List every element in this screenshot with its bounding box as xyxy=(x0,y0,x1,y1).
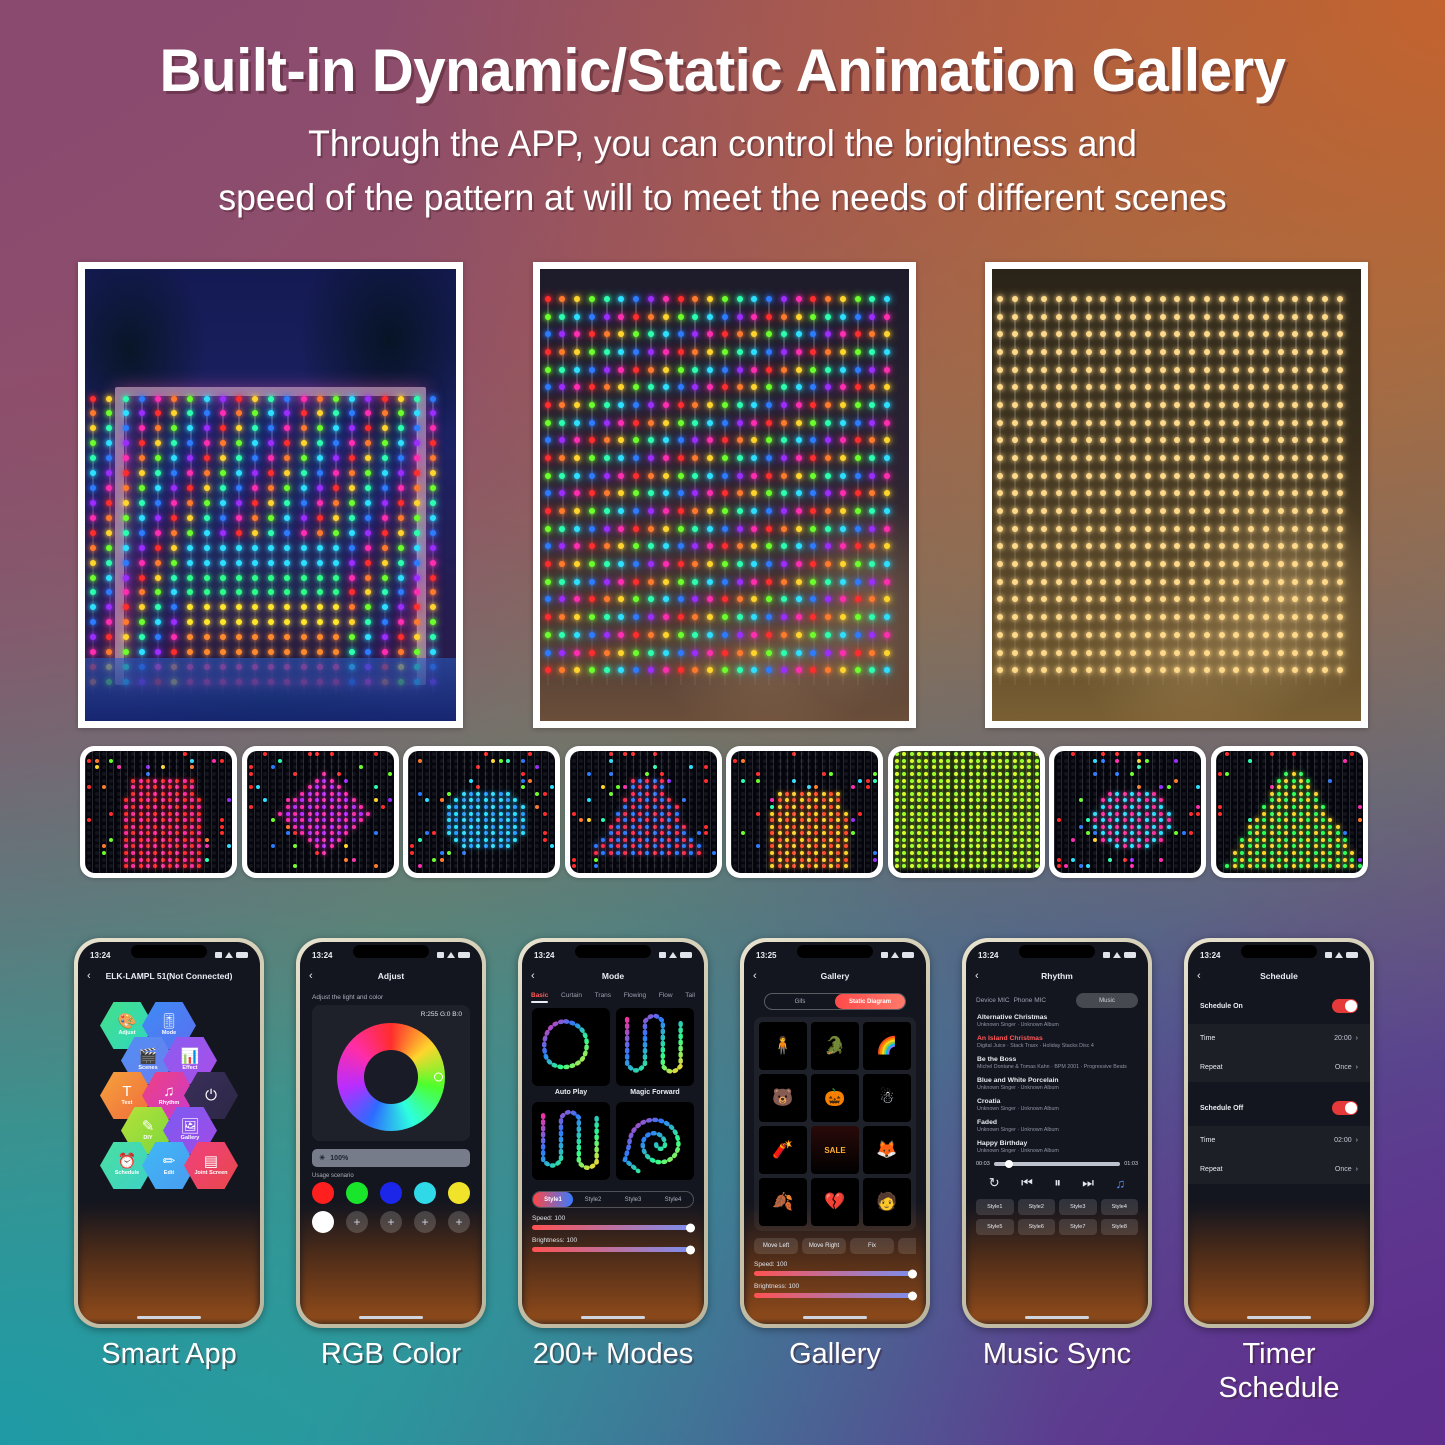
pattern-thumbnail xyxy=(1211,746,1368,878)
hex-menu-label: Gallery xyxy=(163,1136,217,1142)
smiley-face-pattern xyxy=(893,751,1040,873)
mode-cell-label: Auto Play xyxy=(532,1086,610,1096)
phone-rgb-color: 13:24 ‹ Adjust Adjust the light and colo… xyxy=(296,938,486,1328)
color-swatch[interactable] xyxy=(312,1211,334,1233)
schedule-row-time[interactable]: Time02:00› xyxy=(1188,1126,1370,1155)
pattern-thumbnail xyxy=(403,746,560,878)
nav-bar: ‹ Mode xyxy=(522,964,704,988)
schedule-row-repeat[interactable]: RepeatOnce› xyxy=(1188,1053,1370,1082)
usage-scenario-label: Usage scenario xyxy=(300,1167,482,1182)
phone-notch xyxy=(131,945,207,958)
brightness-slider-knob[interactable] xyxy=(908,1291,917,1300)
song-artist: Unknown Singer · Unknown Album xyxy=(977,1127,1137,1133)
tree-pattern xyxy=(570,751,717,873)
nav-bar: ‹ Adjust xyxy=(300,964,482,988)
nav-title: ELK-LAMPL 51(Not Connected) xyxy=(101,971,237,981)
song-list-item[interactable]: FadedUnknown Singer · Unknown Album xyxy=(977,1119,1137,1133)
back-icon[interactable]: ‹ xyxy=(87,970,101,982)
hex-joint-screen-icon: ▤ xyxy=(204,1154,218,1169)
battery-icon xyxy=(902,952,914,958)
phone-modes: 13:24 ‹ Mode BasicCurtainTransFlowingFlo… xyxy=(518,938,708,1328)
mode-tab-flow[interactable]: Flow xyxy=(659,992,673,999)
schedule-row-schedule-on[interactable]: Schedule On xyxy=(1188,988,1370,1024)
signal-icon xyxy=(881,952,888,958)
status-time: 13:24 xyxy=(1200,951,1220,960)
song-title: Be the Boss xyxy=(977,1056,1137,1063)
mode-cell-wrapper[interactable]: Magic Forward xyxy=(616,1008,694,1096)
phone-smart-app: 13:24 ‹ ELK-LAMPL 51(Not Connected) 🎨Adj… xyxy=(74,938,264,1328)
mode-cell-wrapper[interactable] xyxy=(532,1102,610,1183)
elephant-pattern xyxy=(408,751,555,873)
song-list-item[interactable]: Happy BirthdayUnknown Singer · Unknown A… xyxy=(977,1140,1137,1154)
song-artist: Unknown Singer · Unknown Album xyxy=(977,1106,1137,1112)
mode-tab-basic[interactable]: Basic xyxy=(531,992,548,999)
back-icon[interactable]: ‹ xyxy=(1197,970,1211,982)
header-block: Built-in Dynamic/Static Animation Galler… xyxy=(0,36,1445,224)
add-swatch-button[interactable]: + xyxy=(414,1211,436,1233)
add-swatch-button[interactable]: + xyxy=(448,1211,470,1233)
chevron-right-icon: › xyxy=(1356,1166,1358,1173)
gallery-button-move-left[interactable]: Move Left xyxy=(754,1238,798,1254)
brightness-label: Brightness: 100 xyxy=(754,1283,916,1290)
pattern-thumbnail xyxy=(888,746,1045,878)
brightness-icon: ☀ xyxy=(319,1154,325,1162)
signal-icon xyxy=(659,952,666,958)
gallery-pattern-cell[interactable]: 🌈 xyxy=(863,1022,911,1070)
progress-knob[interactable] xyxy=(1005,1160,1013,1168)
playback-controls: ↻⏮⏸⏭♫ xyxy=(966,1167,1148,1191)
color-picker-card: R:255 G:0 B:0 xyxy=(312,1005,470,1141)
schedule-toggle[interactable] xyxy=(1332,1101,1358,1115)
feature-caption-row: Smart AppRGB Color200+ ModesGalleryMusic… xyxy=(74,1338,1374,1438)
schedule-row-repeat[interactable]: RepeatOnce› xyxy=(1188,1155,1370,1184)
rhythm-tab-phone-mic[interactable]: Phone MIC xyxy=(1014,997,1047,1004)
back-icon[interactable]: ‹ xyxy=(975,970,989,982)
song-list-item[interactable]: Be the BossMichel Dontane & Tomas Kahn ·… xyxy=(977,1056,1137,1070)
song-list: Alternative ChristmasUnknown Singer · Un… xyxy=(966,1008,1148,1154)
schedule-row-label: Time xyxy=(1200,1035,1215,1042)
battery-icon xyxy=(236,952,248,958)
mode-tab-flowing[interactable]: Flowing xyxy=(624,992,646,999)
nav-title: Rhythm xyxy=(989,971,1125,981)
rhythm-style-grid: Style1Style2Style3Style4Style5Style6Styl… xyxy=(976,1199,1138,1235)
hero-photo-row xyxy=(78,262,1368,730)
home-indicator xyxy=(1247,1316,1311,1319)
brightness-label: Brightness: 100 xyxy=(532,1237,694,1244)
brightness-slider[interactable]: Brightness: 100 xyxy=(532,1237,694,1252)
pattern-thumbnail-strip xyxy=(80,746,1368,878)
back-icon[interactable]: ‹ xyxy=(753,970,767,982)
gallery-toggle-static-diagram[interactable]: Static Diagram xyxy=(835,994,905,1009)
chevron-right-icon: › xyxy=(1356,1064,1358,1071)
schedule-row-schedule-off[interactable]: Schedule Off xyxy=(1188,1090,1370,1126)
hex-menu-label: Effect xyxy=(163,1066,217,1072)
schedule-row-label: Time xyxy=(1200,1137,1215,1144)
mode-preview-grid: Auto PlayMagic Forward xyxy=(532,1008,694,1183)
back-icon[interactable]: ‹ xyxy=(309,970,323,982)
nav-bar: ‹ ELK-LAMPL 51(Not Connected) xyxy=(78,964,260,988)
song-artist: Unknown Singer · Unknown Album xyxy=(977,1148,1137,1154)
hex-mode-icon: 🎚 xyxy=(159,1014,178,1029)
phone-notch xyxy=(797,945,873,958)
hero-photo-outdoor-pergola xyxy=(78,262,463,728)
speed-label: Speed: 100 xyxy=(754,1261,916,1268)
wave-preview[interactable] xyxy=(532,1102,610,1180)
rhythm-style-style8[interactable]: Style8 xyxy=(1101,1219,1139,1235)
nav-title: Mode xyxy=(545,971,681,981)
gallery-pattern-cell[interactable]: 🧨 xyxy=(759,1126,807,1174)
pattern-thumbnail xyxy=(726,746,883,878)
rgb-value-readout: R:255 G:0 B:0 xyxy=(320,1011,462,1018)
schedule-row-label: Repeat xyxy=(1200,1166,1223,1173)
mode-tab-curtain[interactable]: Curtain xyxy=(561,992,582,999)
mode-cell-label: Magic Forward xyxy=(616,1086,694,1096)
nav-title: Schedule xyxy=(1211,971,1347,981)
mode-cell-wrapper[interactable] xyxy=(616,1102,694,1183)
hero-photo-indoor-rainbow xyxy=(533,262,916,728)
cake-pattern xyxy=(731,751,878,873)
subtitle-line-1: Through the APP, you can control the bri… xyxy=(29,117,1416,171)
star-pattern xyxy=(247,751,394,873)
schedule-row-value: Once› xyxy=(1335,1166,1358,1173)
brightness-slider-knob[interactable] xyxy=(686,1245,695,1254)
song-artist: Unknown Singer · Unknown Album xyxy=(977,1085,1137,1091)
home-indicator xyxy=(581,1316,645,1319)
repeat-icon[interactable]: ↻ xyxy=(989,1175,1000,1191)
speed-slider-knob[interactable] xyxy=(908,1269,917,1278)
schedule-toggle[interactable] xyxy=(1332,999,1358,1013)
hero-photo-indoor-warm-white xyxy=(985,262,1368,728)
mode-cell-wrapper[interactable]: Auto Play xyxy=(532,1008,610,1096)
schedule-row-value: 02:00› xyxy=(1334,1137,1358,1144)
speed-slider[interactable]: Speed: 100 xyxy=(532,1215,694,1230)
song-list-item[interactable]: Alternative ChristmasUnknown Singer · Un… xyxy=(977,1014,1137,1028)
mode-style-style3[interactable]: Style3 xyxy=(613,1197,653,1203)
hex-power-icon: ⏻ xyxy=(205,1088,217,1103)
song-title: An Island Christmas xyxy=(977,1035,1137,1042)
gift-box-pattern xyxy=(85,751,232,873)
nav-bar: ‹ Rhythm xyxy=(966,964,1148,988)
schedule-row-list: Schedule OnTime20:00›RepeatOnce›Schedule… xyxy=(1188,988,1370,1184)
back-icon[interactable]: ‹ xyxy=(531,970,545,982)
subtitle-line-2: speed of the pattern at will to meet the… xyxy=(29,171,1416,225)
status-time: 13:24 xyxy=(534,951,554,960)
schedule-row-time[interactable]: Time20:00› xyxy=(1188,1024,1370,1053)
gallery-button-move-right[interactable]: Move Right xyxy=(802,1238,846,1254)
color-swatch[interactable] xyxy=(448,1182,470,1204)
mode-tab-tail[interactable]: Tail xyxy=(685,992,695,999)
nav-title: Adjust xyxy=(323,971,459,981)
battery-icon xyxy=(1346,952,1358,958)
pattern-thumbnail xyxy=(1049,746,1206,878)
phone-timer-schedule: 13:24 ‹ Schedule Schedule OnTime20:00›Re… xyxy=(1184,938,1374,1328)
wifi-icon xyxy=(669,952,677,958)
wifi-icon xyxy=(1113,952,1121,958)
status-time: 13:24 xyxy=(978,951,998,960)
gallery-pattern-cell[interactable]: 🦊 xyxy=(863,1126,911,1174)
wifi-icon xyxy=(225,952,233,958)
hex-effect-icon: 📊 xyxy=(181,1049,200,1064)
rhythm-style-style6[interactable]: Style6 xyxy=(1018,1219,1056,1235)
gallery-pattern-cell[interactable]: 🍂 xyxy=(759,1178,807,1226)
rhythm-style-style5[interactable]: Style5 xyxy=(976,1219,1014,1235)
speed-slider-knob[interactable] xyxy=(686,1223,695,1232)
hex-rhythm-icon: ♫ xyxy=(163,1084,174,1099)
status-time: 13:24 xyxy=(90,951,110,960)
speed-label: Speed: 100 xyxy=(532,1215,694,1222)
home-indicator xyxy=(1025,1316,1089,1319)
color-swatch[interactable] xyxy=(380,1182,402,1204)
phone-notch xyxy=(1241,945,1317,958)
gallery-pattern-cell[interactable]: 🧍 xyxy=(759,1022,807,1070)
wifi-icon xyxy=(891,952,899,958)
magic-forward-preview[interactable] xyxy=(616,1008,694,1086)
song-title: Happy Birthday xyxy=(977,1140,1137,1147)
rhythm-music-pill[interactable]: Music xyxy=(1076,993,1138,1008)
song-artist: Digital Juice · Stack Traxx · Holiday St… xyxy=(977,1043,1137,1049)
song-title: Alternative Christmas xyxy=(977,1014,1137,1021)
add-swatch-button[interactable]: + xyxy=(346,1211,368,1233)
mode-cell-label xyxy=(616,1180,694,1183)
home-indicator xyxy=(803,1316,867,1319)
signal-icon xyxy=(437,952,444,958)
hex-schedule-icon: ⏰ xyxy=(118,1154,137,1169)
hex-edit-icon: ✏ xyxy=(163,1154,176,1169)
schedule-row-label: Repeat xyxy=(1200,1064,1223,1071)
wifi-icon xyxy=(1335,952,1343,958)
feature-caption-timer-schedule: TimerSchedule xyxy=(1184,1338,1374,1438)
heart-pattern xyxy=(1054,751,1201,873)
gallery-button-m[interactable]: M xyxy=(898,1238,916,1254)
swatch-row xyxy=(312,1182,470,1204)
hex-diy-icon: ✎ xyxy=(142,1119,155,1134)
previous-icon[interactable]: ⏮ xyxy=(1021,1175,1033,1191)
mode-tab-bar: BasicCurtainTransFlowingFlowTail xyxy=(522,988,704,999)
nav-bar: ‹ Schedule xyxy=(1188,964,1370,988)
pattern-thumbnail xyxy=(80,746,237,878)
color-wheel[interactable] xyxy=(337,1023,445,1131)
next-icon[interactable]: ⏭ xyxy=(1082,1175,1094,1191)
feature-caption-200--modes: 200+ Modes xyxy=(518,1338,708,1438)
song-list-item[interactable]: Blue and White PorcelainUnknown Singer ·… xyxy=(977,1077,1137,1091)
equalizer-icon[interactable]: ♫ xyxy=(1115,1176,1125,1191)
status-time: 13:24 xyxy=(312,951,332,960)
hex-text-icon: T xyxy=(122,1084,131,1099)
gallery-pattern-cell[interactable]: 🧑 xyxy=(863,1178,911,1226)
phone-screenshot-row: 13:24 ‹ ELK-LAMPL 51(Not Connected) 🎨Adj… xyxy=(74,938,1374,1330)
caption-line-2: Schedule xyxy=(1184,1372,1374,1406)
wifi-icon xyxy=(447,952,455,958)
battery-icon xyxy=(680,952,692,958)
battery-icon xyxy=(458,952,470,958)
rhythm-tab-device-mic[interactable]: Device MIC xyxy=(976,997,1010,1004)
battery-icon xyxy=(1124,952,1136,958)
home-indicator xyxy=(359,1316,423,1319)
gallery-pattern-cell[interactable]: 🐻 xyxy=(759,1074,807,1122)
spiral-preview[interactable] xyxy=(616,1102,694,1180)
add-swatch-button[interactable]: + xyxy=(380,1211,402,1233)
phone-notch xyxy=(353,945,429,958)
mode-style-style2[interactable]: Style2 xyxy=(573,1197,613,1203)
nav-title: Gallery xyxy=(767,971,903,981)
song-title: Croatia xyxy=(977,1098,1137,1105)
song-list-item[interactable]: CroatiaUnknown Singer · Unknown Album xyxy=(977,1098,1137,1112)
time-total: 01:03 xyxy=(1124,1161,1138,1167)
background-blur xyxy=(1188,1204,1370,1324)
hex-scenes-icon: 🎬 xyxy=(139,1049,158,1064)
hex-adjust-icon: 🎨 xyxy=(118,1014,137,1029)
hex-menu-label: Mode xyxy=(142,1031,196,1037)
page-subtitle: Through the APP, you can control the bri… xyxy=(29,117,1416,224)
feature-caption-gallery: Gallery xyxy=(740,1338,930,1438)
hex-menu-grid: 🎨Adjust🎚Mode🎬Scenes📊EffectTText♫Rhythm⏻✎… xyxy=(78,1002,260,1252)
mode-style-style1[interactable]: Style1 xyxy=(533,1192,573,1207)
section-label: Adjust the light and color xyxy=(300,988,482,1005)
mode-style-style4[interactable]: Style4 xyxy=(653,1197,693,1203)
signal-icon xyxy=(1325,952,1332,958)
play-pause-icon[interactable]: ⏸ xyxy=(1054,1175,1061,1191)
brightness-value: 100% xyxy=(330,1155,348,1162)
color-swatch-grid: ++++ xyxy=(300,1182,482,1233)
speed-slider[interactable]: Speed: 100 xyxy=(754,1261,916,1276)
color-swatch[interactable] xyxy=(312,1182,334,1204)
brightness-slider[interactable]: Brightness: 100 xyxy=(754,1283,916,1298)
color-swatch[interactable] xyxy=(414,1182,436,1204)
mode-cell-label xyxy=(532,1180,610,1183)
phone-notch xyxy=(575,945,651,958)
feature-caption-smart-app: Smart App xyxy=(74,1338,264,1438)
home-indicator xyxy=(137,1316,201,1319)
time-elapsed: 00:03 xyxy=(976,1161,990,1167)
phone-music-sync: 13:24 ‹ Rhythm Device MICPhone MICMusic … xyxy=(962,938,1152,1328)
hex-gallery-icon: 🖼 xyxy=(180,1119,199,1134)
song-list-item[interactable]: An Island ChristmasDigital Juice · Stack… xyxy=(977,1035,1137,1049)
schedule-row-label: Schedule Off xyxy=(1200,1105,1243,1112)
pattern-thumbnail xyxy=(242,746,399,878)
feature-caption-rgb-color: RGB Color xyxy=(296,1338,486,1438)
chevron-right-icon: › xyxy=(1356,1137,1358,1144)
gallery-pattern-cell[interactable]: 🐊 xyxy=(811,1022,859,1070)
mode-tab-trans[interactable]: Trans xyxy=(595,992,611,999)
color-swatch[interactable] xyxy=(346,1182,368,1204)
auto-play-preview[interactable] xyxy=(532,1008,610,1086)
status-time: 13:25 xyxy=(756,951,776,960)
signal-icon xyxy=(1103,952,1110,958)
schedule-row-label: Schedule On xyxy=(1200,1003,1243,1010)
song-artist: Unknown Singer · Unknown Album xyxy=(977,1022,1137,1028)
signal-icon xyxy=(215,952,222,958)
swatch-row: ++++ xyxy=(312,1211,470,1233)
nav-bar: ‹ Gallery xyxy=(744,964,926,988)
gallery-pattern-cell[interactable]: 💔 xyxy=(811,1178,859,1226)
hex-menu-label: Joint Screen xyxy=(184,1171,238,1177)
phone-notch xyxy=(1019,945,1095,958)
pattern-thumbnail xyxy=(565,746,722,878)
song-artist: Michel Dontane & Tomas Kahn · BPM 2001 ·… xyxy=(977,1064,1137,1070)
song-title: Blue and White Porcelain xyxy=(977,1077,1137,1084)
caption-line-1: Timer xyxy=(1184,1338,1374,1372)
rhythm-style-style7[interactable]: Style7 xyxy=(1059,1219,1097,1235)
schedule-row-value: Once› xyxy=(1335,1064,1358,1071)
christmas-tree-pattern xyxy=(1216,751,1363,873)
schedule-row-value: 20:00› xyxy=(1334,1035,1358,1042)
brightness-slider[interactable]: ☀ 100% xyxy=(312,1149,470,1167)
rhythm-style-style2[interactable]: Style2 xyxy=(1018,1199,1056,1215)
rhythm-style-style4[interactable]: Style4 xyxy=(1101,1199,1139,1215)
song-title: Faded xyxy=(977,1119,1137,1126)
rhythm-source-tabs: Device MICPhone MICMusic xyxy=(966,988,1148,1008)
gallery-type-toggle: GifsStatic Diagram xyxy=(764,993,906,1010)
rhythm-style-style1[interactable]: Style1 xyxy=(976,1199,1014,1215)
chevron-right-icon: › xyxy=(1356,1035,1358,1042)
gallery-pattern-grid: 🧍🐊🌈🐻🎃☃🧨SALE🦊🍂💔🧑 xyxy=(754,1017,916,1231)
gallery-pattern-cell[interactable]: 🎃 xyxy=(811,1074,859,1122)
page-title: Built-in Dynamic/Static Animation Galler… xyxy=(22,36,1424,105)
color-wheel-handle[interactable] xyxy=(434,1073,443,1082)
gallery-button-fix[interactable]: Fix xyxy=(850,1238,894,1254)
gallery-pattern-cell[interactable]: SALE xyxy=(811,1126,859,1174)
gallery-toggle-gifs[interactable]: Gifs xyxy=(765,999,835,1005)
style-segmented-control: Style1Style2Style3Style4 xyxy=(532,1191,694,1208)
rhythm-style-style3[interactable]: Style3 xyxy=(1059,1199,1097,1215)
gallery-action-buttons: Move LeftMove RightFixM xyxy=(754,1238,916,1254)
phone-gallery: 13:25 ‹ Gallery GifsStatic Diagram 🧍🐊🌈🐻🎃… xyxy=(740,938,930,1328)
feature-caption-music-sync: Music Sync xyxy=(962,1338,1152,1438)
gallery-pattern-cell[interactable]: ☃ xyxy=(863,1074,911,1122)
